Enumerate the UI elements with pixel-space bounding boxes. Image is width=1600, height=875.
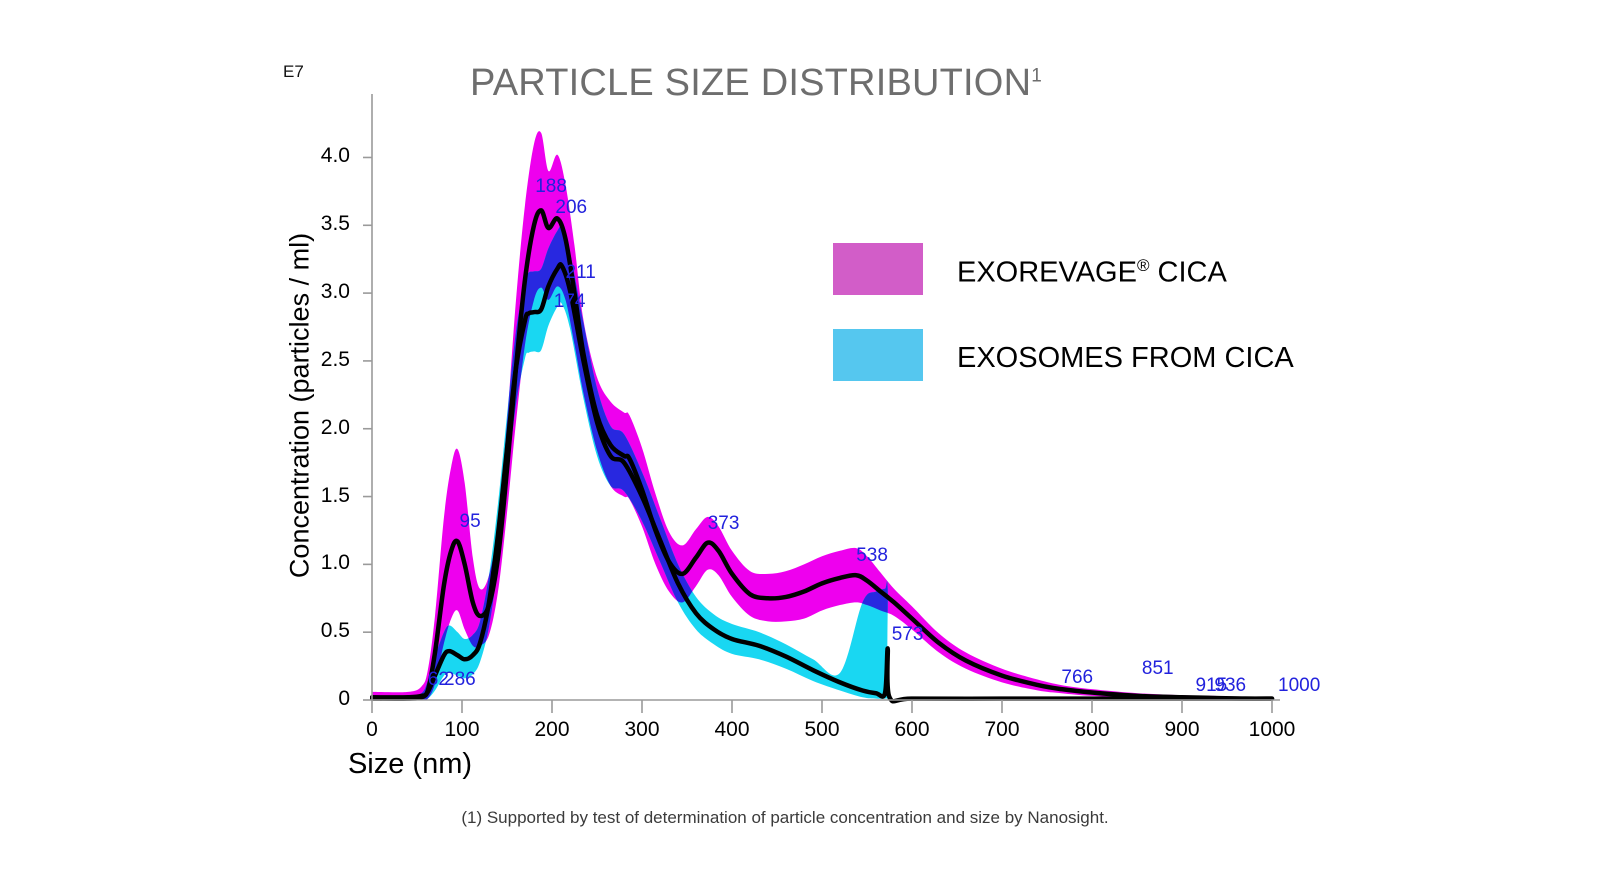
- data-point-label: 1000: [1278, 675, 1320, 697]
- footnote: (1) Supported by test of determination o…: [0, 808, 1600, 828]
- data-point-label: 766: [1061, 667, 1093, 689]
- y-axis-tick: 0: [290, 687, 350, 711]
- data-point-label: 188: [535, 176, 567, 198]
- x-axis-tick: 200: [522, 718, 582, 742]
- x-axis-tick: 900: [1152, 718, 1212, 742]
- x-axis-tick: 1000: [1242, 718, 1302, 742]
- y-axis-exponent-label: E7: [283, 62, 304, 82]
- y-axis-tick: 3.0: [290, 280, 350, 304]
- legend-label-main: EXOSOMES FROM CICA: [957, 342, 1294, 374]
- legend-label-exosomes-from-cica: EXOSOMES FROM CICA: [957, 342, 1294, 375]
- x-axis-tick: 0: [342, 718, 402, 742]
- y-axis-tick: 0.5: [290, 619, 350, 643]
- x-axis-label-text: Size (nm): [348, 748, 472, 780]
- data-point-label: 573: [892, 624, 924, 646]
- x-axis-tick: 400: [702, 718, 762, 742]
- y-axis-tick: 3.5: [290, 212, 350, 236]
- legend-label-main: EXOREVAGE: [957, 257, 1137, 289]
- chart-title-text: PARTICLE SIZE DISTRIBUTION: [470, 62, 1031, 104]
- x-axis-tick: 700: [972, 718, 1032, 742]
- data-point-label: 851: [1142, 658, 1174, 680]
- legend-swatch-exosomes-from-cica: [833, 329, 923, 381]
- data-point-label: 538: [856, 545, 888, 567]
- chart-title: PARTICLE SIZE DISTRIBUTION1: [470, 62, 1042, 105]
- data-point-label: 373: [708, 513, 740, 535]
- x-axis-tick: 800: [1062, 718, 1122, 742]
- y-axis-tick: 2.5: [290, 348, 350, 372]
- y-axis-tick: 1.5: [290, 484, 350, 508]
- y-axis-tick: 1.0: [290, 551, 350, 575]
- x-axis-tick: 600: [882, 718, 942, 742]
- x-axis-tick: 100: [432, 718, 492, 742]
- data-point-label: 174: [554, 291, 586, 313]
- data-point-label: 211: [566, 262, 596, 284]
- plot-canvas: [0, 0, 1600, 875]
- x-axis-label: Size (nm): [0, 748, 1600, 781]
- data-point-label: 95: [460, 511, 481, 533]
- y-axis-tick: 4.0: [290, 144, 350, 168]
- footnote-text: (1) Supported by test of determination o…: [461, 808, 1108, 827]
- registered-trademark-icon: ®: [1137, 256, 1150, 275]
- chart-title-superscript: 1: [1031, 65, 1042, 86]
- x-axis-tick: 500: [792, 718, 852, 742]
- data-point-label: 206: [555, 197, 587, 219]
- x-axis-tick: 300: [612, 718, 672, 742]
- legend-label-exorevage-cica: EXOREVAGE® CICA: [957, 256, 1227, 290]
- data-point-label: 936: [1214, 675, 1246, 697]
- data-point-label: 286: [444, 669, 476, 691]
- particle-size-distribution-figure: E7 PARTICLE SIZE DISTRIBUTION1 Concentra…: [0, 0, 1600, 875]
- legend-label-suffix: CICA: [1150, 257, 1227, 289]
- legend-swatch-exorevage-cica: [833, 243, 923, 295]
- y-axis-tick: 2.0: [290, 416, 350, 440]
